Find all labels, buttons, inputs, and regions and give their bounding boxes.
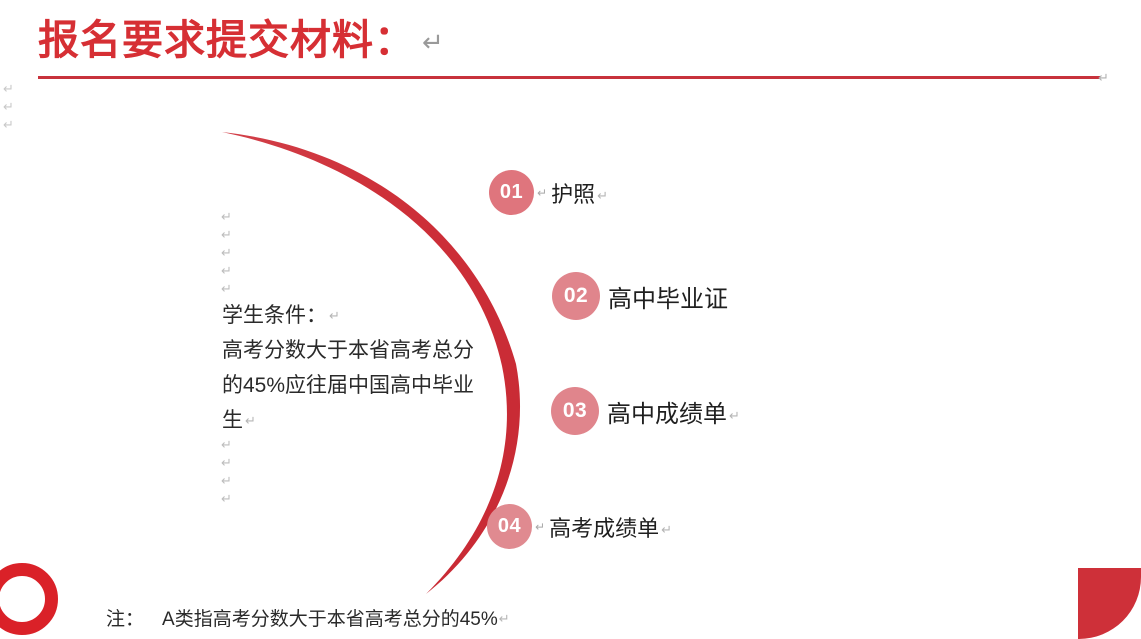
paragraph-mark-icon: ↵ (221, 490, 243, 508)
item-label-02: 高中毕业证 (608, 279, 728, 314)
conditions-heading: 学生条件： (222, 304, 327, 327)
footer-note-label: 注： (106, 609, 144, 630)
paragraph-mark-icon: ↵ (221, 244, 243, 262)
paragraph-mark-icon: ↵ (221, 262, 243, 280)
paragraph-mark-icon: ↵ (3, 100, 14, 113)
list-item[interactable]: 04 ↵ 高考成绩单↵ (487, 504, 672, 549)
paragraph-mark-icon: ↵ (661, 522, 672, 537)
paragraph-mark-icon: ↵ (597, 188, 608, 203)
page-title-text: 报名要求提交材料： (38, 17, 416, 63)
title-block: 报名要求提交材料：↵ (38, 12, 1108, 76)
conditions-body-line-2: 的45%应往届中国高中毕业 (222, 368, 510, 403)
conditions-body-line-3-text: 生 (222, 409, 243, 432)
list-item[interactable]: 01 ↵ 护照↵ (489, 170, 608, 215)
paragraph-mark-icon: ↵ (221, 208, 243, 226)
student-conditions-text: 学生条件：↵ 高考分数大于本省高考总分 的45%应往届中国高中毕业 生↵ (222, 298, 510, 438)
paragraph-mark-icon: ↵ (245, 413, 256, 428)
item-label-01: 护照↵ (551, 177, 608, 209)
conditions-body-line-3: 生↵ (222, 403, 510, 438)
paragraph-mark-column-above: ↵ ↵ ↵ ↵ ↵ (221, 208, 243, 298)
item-badge-03: 03 (551, 387, 599, 435)
item-label-01-text: 护照 (551, 182, 595, 207)
paragraph-mark-icon: ↵ (221, 454, 243, 472)
paragraph-mark-icon: ↵ (221, 472, 243, 490)
paragraph-mark-icon: ↵ (499, 611, 510, 626)
footer-note: 注：A类指高考分数大于本省高考总分的45%↵ (106, 604, 510, 631)
slide-canvas: 报名要求提交材料：↵ ↵ ↵ ↵ ↵ ↵ ↵ ↵ ↵ ↵ 学生条件：↵ 高考分数… (0, 0, 1141, 639)
item-label-03-text: 高中成绩单 (607, 401, 727, 428)
list-item[interactable]: 03 高中成绩单↵ (551, 387, 740, 435)
item-badge-01: 01 (489, 170, 534, 215)
conditions-body-line-1: 高考分数大于本省高考总分 (222, 333, 510, 368)
red-ring-decoration (0, 563, 58, 635)
footer-note-text: A类指高考分数大于本省高考总分的45% (162, 609, 498, 630)
paragraph-mark-column-below: ↵ ↵ ↵ ↵ (221, 436, 243, 508)
red-corner-block-decoration (1078, 568, 1141, 639)
title-underline (38, 76, 1100, 79)
conditions-heading-line: 学生条件：↵ (222, 298, 510, 333)
paragraph-mark-icon: ↵ (221, 280, 243, 298)
item-badge-04: 04 (487, 504, 532, 549)
paragraph-mark-icon: ↵ (329, 308, 340, 323)
paragraph-mark-icon: ↵ (3, 82, 14, 95)
paragraph-mark-icon: ↵ (532, 520, 549, 534)
item-label-04: 高考成绩单↵ (549, 511, 672, 543)
paragraph-mark-icon: ↵ (422, 27, 445, 57)
list-item[interactable]: 02 高中毕业证 (552, 272, 728, 320)
paragraph-mark-icon: ↵ (221, 226, 243, 244)
paragraph-mark-icon: ↵ (3, 118, 14, 131)
paragraph-mark-icon: ↵ (729, 408, 740, 423)
item-label-04-text: 高考成绩单 (549, 516, 659, 541)
paragraph-mark-icon: ↵ (221, 436, 243, 454)
item-label-03: 高中成绩单↵ (607, 394, 740, 429)
paragraph-mark-icon: ↵ (534, 186, 551, 200)
item-badge-02: 02 (552, 272, 600, 320)
page-title: 报名要求提交材料：↵ (38, 12, 1108, 70)
paragraph-mark-icon: ↵ (1098, 70, 1109, 86)
